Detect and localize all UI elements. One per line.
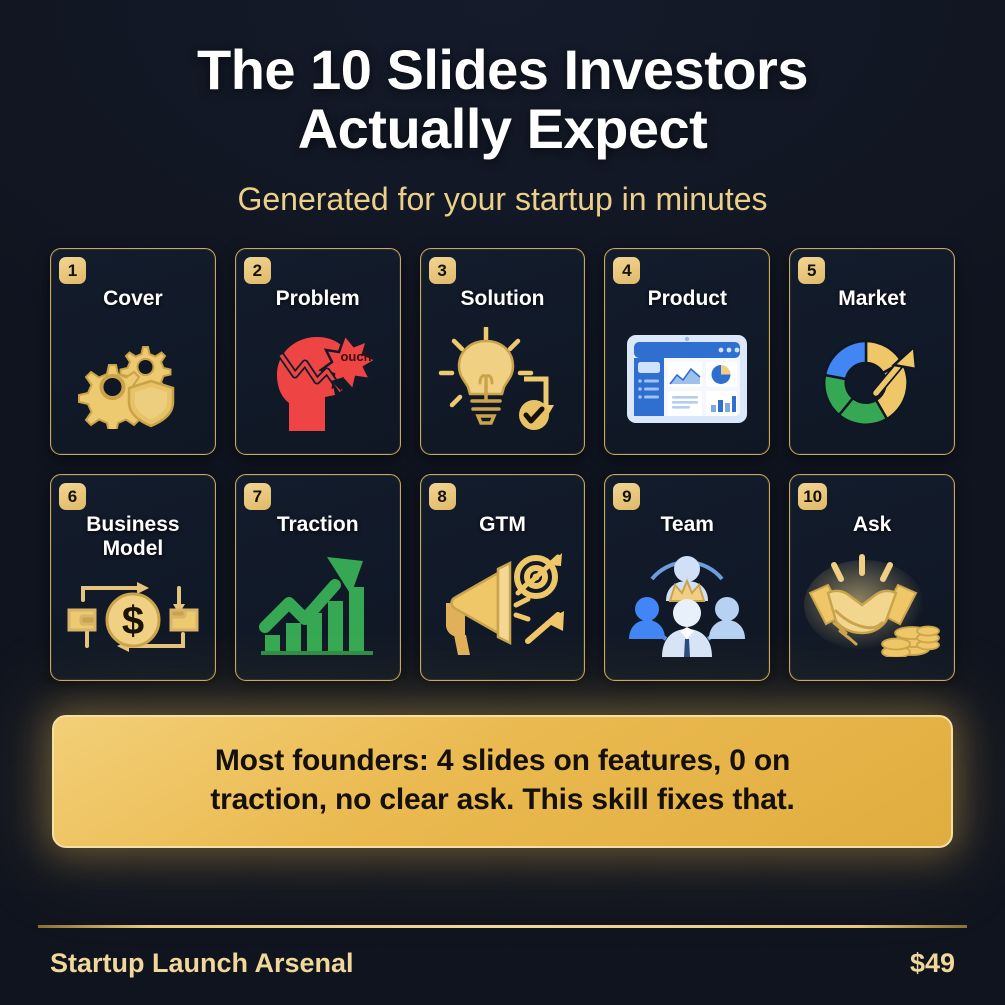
svg-text:$: $ bbox=[122, 599, 144, 643]
money-cycle-icon: $ bbox=[51, 561, 215, 680]
ouch-label: ouch bbox=[340, 349, 371, 364]
gears-shield-icon bbox=[51, 311, 215, 454]
callout-banner-wrapper: Most founders: 4 slides on features, 0 o… bbox=[0, 681, 1005, 848]
slide-number-badge: 1 bbox=[59, 257, 86, 284]
megaphone-target-icon bbox=[421, 537, 585, 680]
slide-number-badge: 9 bbox=[613, 483, 640, 510]
slide-card-label: Product bbox=[642, 287, 733, 311]
slide-number-badge: 2 bbox=[244, 257, 271, 284]
footer-price: $49 bbox=[910, 948, 955, 979]
slide-number-badge: 7 bbox=[244, 483, 271, 510]
slide-card-label: Cover bbox=[97, 287, 169, 311]
callout-banner-text: Most founders: 4 slides on features, 0 o… bbox=[84, 741, 921, 820]
slide-card-cover[interactable]: 1 Cover bbox=[50, 248, 216, 455]
slides-grid-wrapper: 1 Cover 2 bbox=[0, 218, 1005, 681]
page-title-line-2: Actually Expect bbox=[60, 99, 945, 158]
slide-card-label: Traction bbox=[271, 513, 365, 537]
slide-card-product[interactable]: 4 Product bbox=[604, 248, 770, 455]
slide-card-problem[interactable]: 2 Problem ouch bbox=[235, 248, 401, 455]
slide-card-gtm[interactable]: 8 GTM bbox=[420, 474, 586, 681]
slide-card-label: Solution bbox=[455, 287, 551, 311]
slide-card-business-model[interactable]: 6 Business Model bbox=[50, 474, 216, 681]
team-crown-icon bbox=[605, 537, 769, 680]
growth-chart-icon bbox=[236, 537, 400, 680]
callout-line-2: traction, no clear ask. This skill fixes… bbox=[84, 780, 921, 820]
slide-card-ask[interactable]: 10 Ask bbox=[789, 474, 955, 681]
slide-card-team[interactable]: 9 Team bbox=[604, 474, 770, 681]
slide-card-label: Team bbox=[655, 513, 720, 537]
slide-card-traction[interactable]: 7 Traction bbox=[235, 474, 401, 681]
head-pain-ouch-icon: ouch bbox=[236, 311, 400, 454]
handshake-coins-icon bbox=[790, 537, 954, 680]
dashboard-window-icon bbox=[605, 311, 769, 454]
page-subtitle: Generated for your startup in minutes bbox=[60, 181, 945, 218]
slide-card-label: Business Model bbox=[51, 513, 215, 561]
slide-number-badge: 3 bbox=[429, 257, 456, 284]
page-title-line-1: The 10 Slides Investors bbox=[60, 40, 945, 99]
slides-grid: 1 Cover 2 bbox=[50, 248, 955, 681]
slide-number-badge: 8 bbox=[429, 483, 456, 510]
slide-card-label: Ask bbox=[847, 513, 898, 537]
slide-card-label: Problem bbox=[270, 287, 366, 311]
footer: Startup Launch Arsenal $49 bbox=[38, 925, 967, 1005]
donut-chart-arrow-icon bbox=[790, 311, 954, 454]
lightbulb-check-icon bbox=[421, 311, 585, 454]
slide-card-solution[interactable]: 3 Solution bbox=[420, 248, 586, 455]
slide-card-label: GTM bbox=[473, 513, 532, 537]
slide-number-badge: 6 bbox=[59, 483, 86, 510]
footer-spacer bbox=[0, 848, 1005, 925]
slide-number-badge: 10 bbox=[798, 483, 827, 510]
callout-banner: Most founders: 4 slides on features, 0 o… bbox=[52, 715, 953, 848]
slide-card-label: Market bbox=[832, 287, 912, 311]
header: The 10 Slides Investors Actually Expect … bbox=[0, 0, 1005, 218]
callout-line-1: Most founders: 4 slides on features, 0 o… bbox=[84, 741, 921, 781]
poster-root: The 10 Slides Investors Actually Expect … bbox=[0, 0, 1005, 1005]
slide-number-badge: 4 bbox=[613, 257, 640, 284]
footer-brand: Startup Launch Arsenal bbox=[50, 948, 354, 979]
slide-card-market[interactable]: 5 Market bbox=[789, 248, 955, 455]
slide-number-badge: 5 bbox=[798, 257, 825, 284]
page-title: The 10 Slides Investors Actually Expect bbox=[60, 40, 945, 159]
